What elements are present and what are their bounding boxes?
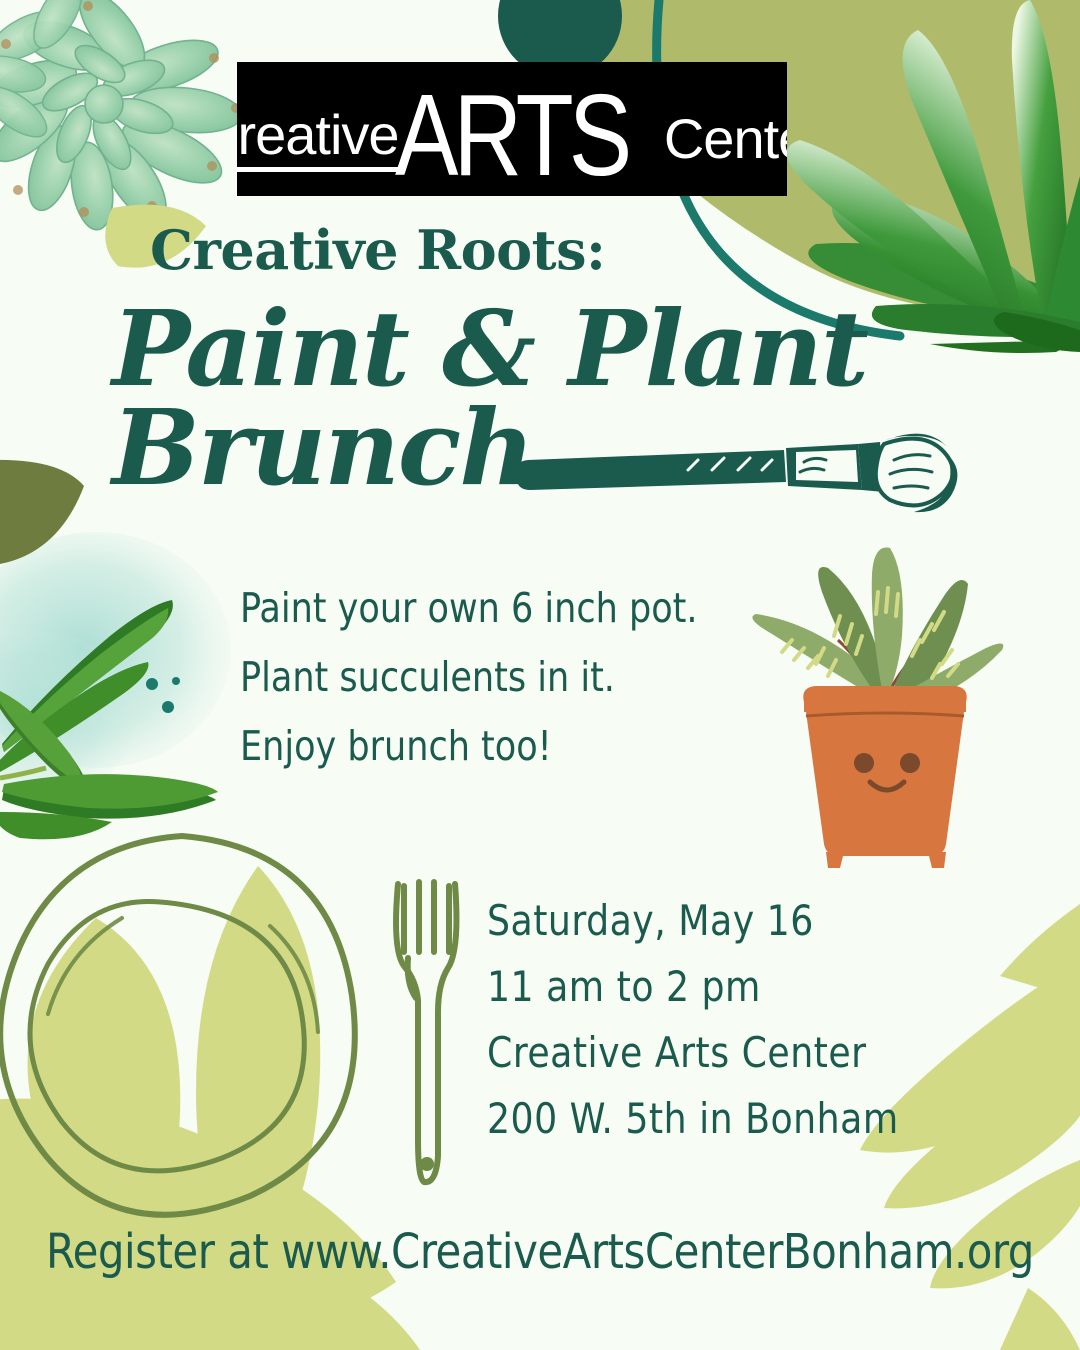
event-poster: Creative ARTS Center Creative Roots: Pai… (0, 0, 1080, 1350)
dot-accents (146, 677, 180, 713)
leaf-shapes (0, 460, 84, 566)
organization-logo: Creative ARTS Center (237, 62, 787, 196)
event-venue: Creative Arts Center (487, 1032, 899, 1074)
logo-word-creative: Creative (237, 107, 399, 172)
event-details: Saturday, May 16 11 am to 2 pm Creative … (487, 900, 916, 1164)
title-line-2: Brunch (112, 399, 872, 498)
list-item: Enjoy brunch too! (240, 726, 698, 767)
title-line-1: Paint & Plant (112, 300, 872, 399)
logo-word-arts: ARTS (395, 77, 627, 193)
list-item: Paint your own 6 inch pot. (240, 588, 698, 629)
list-item: Plant succulents in it. (240, 657, 698, 698)
event-date: Saturday, May 16 (487, 900, 899, 942)
registration-line[interactable]: Register at www.CreativeArtsCenterBonham… (16, 1228, 1064, 1276)
leaves-cluster (0, 600, 218, 839)
fork-icon (396, 882, 456, 1182)
succulent-watercolor (0, 0, 244, 232)
logo-word-center: Center (664, 111, 787, 167)
watercolor-wash (0, 532, 231, 800)
plate-outline (0, 836, 355, 1215)
page-title: Paint & Plant Brunch (112, 300, 872, 498)
activity-list: Paint your own 6 inch pot. Plant succule… (240, 588, 722, 795)
event-time: 11 am to 2 pm (487, 966, 899, 1008)
potted-plant-smiling (752, 548, 1003, 868)
poster-eyebrow: Creative Roots: (150, 218, 605, 282)
event-address: 200 W. 5th in Bonham (487, 1098, 899, 1140)
